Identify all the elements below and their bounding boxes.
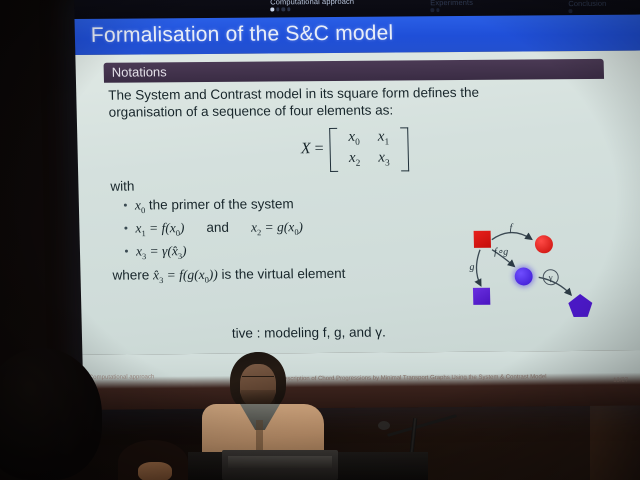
equation-lhs: X xyxy=(301,140,311,158)
footer-right: 13/27 xyxy=(613,378,628,384)
transport-graph-diagram: f g f∘g γ xyxy=(457,219,609,325)
photo-scene: Computational approach Experiments Concl… xyxy=(0,0,640,480)
objective-line: tive : modeling f, g, and γ. xyxy=(232,325,386,341)
diagram-node-x3 xyxy=(567,293,594,319)
nav-section-experiments[interactable]: Experiments xyxy=(430,0,473,12)
nav-label: Conclusion xyxy=(568,0,606,8)
nav-label: Experiments xyxy=(430,0,473,7)
edge-label-fog: f∘g xyxy=(494,247,508,258)
nav-progress-dots xyxy=(430,8,473,12)
footer-left: Computational approach xyxy=(89,374,155,381)
matrix-row: x2 x3 xyxy=(340,148,399,169)
diagram-node-x2 xyxy=(473,288,490,305)
projection-screen: Computational approach Experiments Concl… xyxy=(74,0,640,410)
microphone-head xyxy=(378,421,390,430)
matrix: x0 x1 x2 x3 xyxy=(329,127,409,170)
audience-hand xyxy=(138,462,172,480)
slide-title-bar: Formalisation of the S&C model xyxy=(74,15,640,55)
intro-line-2: organisation of a sequence of four eleme… xyxy=(109,100,599,121)
slide-title: Formalisation of the S&C model xyxy=(91,21,394,47)
matrix-bracket-right xyxy=(400,127,409,171)
nav-section-computational-approach[interactable]: Computational approach xyxy=(270,0,354,11)
matrix-cell: x2 xyxy=(340,149,370,170)
matrix-bracket-left xyxy=(329,128,338,172)
diagram-node-xhat3 xyxy=(514,267,532,285)
diagram-node-x1 xyxy=(535,235,553,253)
slide-footer: Computational approach ICMPC — Descripti… xyxy=(82,350,640,409)
matrix-equation: X = x0 x1 x2 xyxy=(109,126,600,172)
notations-block-title: Notations xyxy=(112,64,167,79)
equation-relation: = xyxy=(314,140,323,158)
matrix-cell: x3 xyxy=(369,148,399,169)
edge-g xyxy=(476,250,481,286)
matrix-row: x0 x1 xyxy=(339,127,398,148)
nav-progress-dots xyxy=(568,9,606,13)
eyeglasses xyxy=(242,376,274,384)
edge-label-gamma: γ xyxy=(543,269,559,285)
matrix-cell: x1 xyxy=(369,127,399,148)
with-label: with xyxy=(110,174,600,195)
edge-label-g: g xyxy=(469,262,474,273)
edge-label-f: f xyxy=(509,223,512,234)
matrix-cell: x0 xyxy=(339,128,369,149)
laptop xyxy=(222,450,338,480)
diagram-node-x0 xyxy=(474,231,491,248)
nav-label: Computational approach xyxy=(270,0,354,6)
slide-body: Notations The System and Contrast model … xyxy=(75,51,640,355)
nav-section-conclusion[interactable]: Conclusion xyxy=(568,0,606,13)
nav-progress-dots xyxy=(270,7,354,11)
